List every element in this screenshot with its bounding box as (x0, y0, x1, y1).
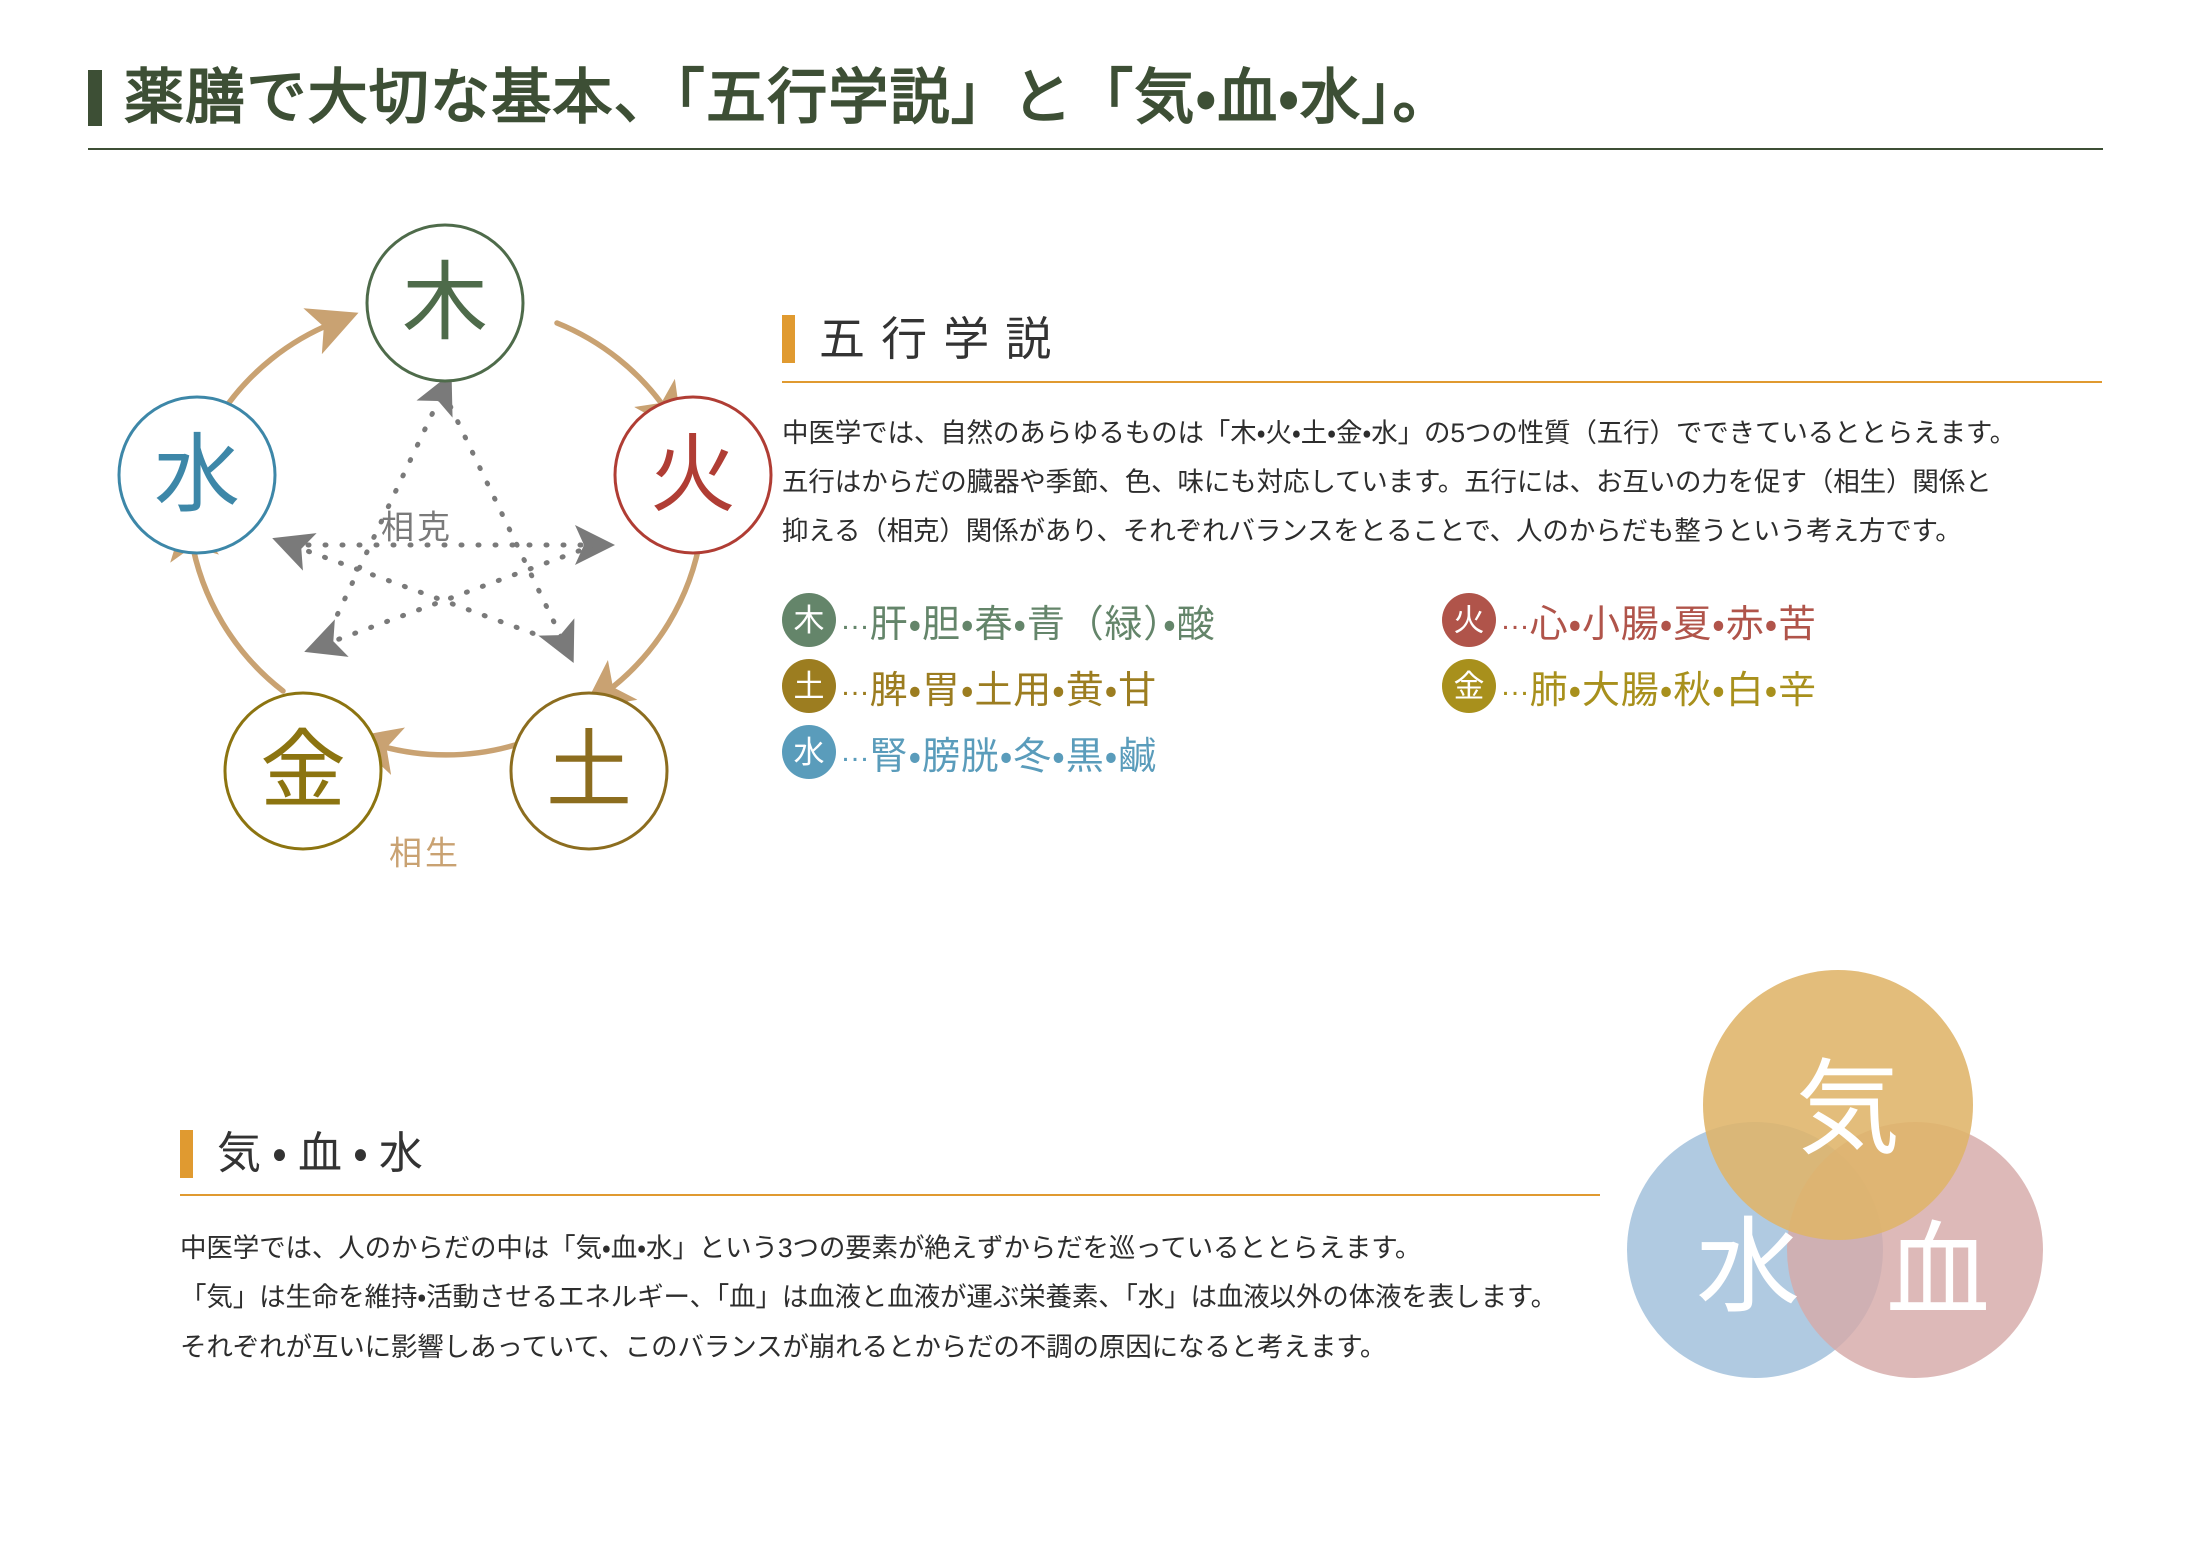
page-title: 薬膳で大切な基本、「五行学説」と「気・血・水」。 (88, 48, 2103, 150)
element-node-metal-label: 金 (260, 723, 346, 819)
ki-ketsu-sui-heading-text: 気・血・水 (217, 1132, 434, 1176)
legend-row-water: 水 … 腎・膀胱・冬・黒・鹹 (782, 722, 1442, 782)
gogyou-heading: 五行学説 (782, 315, 2102, 383)
five-elements-wheel-diagram: 木 火 土 金 水 相克 相生 (95, 215, 795, 915)
ki-ketsu-sui-paragraph-line: 中医学では、人のからだの中は「気・血・水」という3つの要素が絶えずからだを巡って… (180, 1224, 1600, 1273)
legend-ellipsis: … (840, 735, 868, 769)
gogyou-paragraph-line: 中医学では、自然のあらゆるものは「木・火・土・金・水」の5つの性質（五行）ででき… (782, 409, 2102, 458)
legend-badge-earth: 土 (782, 659, 836, 713)
legend-text-wood: 肝・胆・春・青（緑）・酸 (870, 593, 1216, 648)
ki-ketsu-sui-paragraph: 中医学では、人のからだの中は「気・血・水」という3つの要素が絶えずからだを巡って… (180, 1224, 1600, 1372)
element-node-wood-label: 木 (402, 255, 488, 351)
sheng-cycle-label: 相生 (389, 835, 461, 872)
legend-text-metal: 肺・大腸・秋・白・辛 (1530, 659, 1817, 714)
legend-row-wood: 木 … 肝・胆・春・青（緑）・酸 (782, 590, 1442, 650)
legend-text-earth: 脾・胃・土用・黄・甘 (870, 659, 1157, 714)
legend-ellipsis: … (1500, 669, 1528, 703)
page-title-text: 薬膳で大切な基本、「五行学説」と「気・血・水」。 (124, 68, 1454, 128)
legend-badge-wood: 木 (782, 593, 836, 647)
ki-ketsu-sui-section: 気・血・水 中医学では、人のからだの中は「気・血・水」という3つの要素が絶えずか… (180, 1130, 1600, 1372)
legend-ellipsis: … (840, 669, 868, 703)
element-node-earth: 土 (511, 693, 667, 849)
venn-label-ki: 気 (1796, 1052, 1900, 1168)
gogyou-paragraph-line: 抑える（相克）関係があり、それぞれバランスをとることで、人のからだも整うという考… (782, 507, 2102, 556)
title-accent-bar (88, 70, 102, 126)
legend-badge-fire: 火 (1442, 593, 1496, 647)
legend-row-metal: 金 … 肺・大腸・秋・白・辛 (1442, 656, 2102, 716)
element-node-water: 水 (119, 397, 275, 553)
element-node-fire: 火 (615, 397, 771, 553)
ki-ketsu-sui-heading-accent-bar (180, 1130, 193, 1178)
gogyou-heading-accent-bar (782, 315, 795, 363)
ki-ketsu-sui-paragraph-line: それぞれが互いに影響しあっていて、このバランスが崩れるとからだの不調の原因になる… (180, 1323, 1600, 1372)
legend-row-fire: 火 … 心・小腸・夏・赤・苦 (1442, 590, 2102, 650)
legend-ellipsis: … (840, 603, 868, 637)
element-node-earth-label: 土 (546, 723, 632, 819)
element-node-water-label: 水 (154, 427, 240, 523)
ki-ketsu-sui-heading: 気・血・水 (180, 1130, 1600, 1196)
gogyou-gakusetsu-section: 五行学説 中医学では、自然のあらゆるものは「木・火・土・金・水」の5つの性質（五… (782, 315, 2102, 782)
venn-label-sui: 水 (1696, 1210, 1800, 1326)
ke-cycle-label: 相克 (381, 509, 453, 546)
ki-ketsu-sui-venn-diagram: 気 水 血 (1530, 920, 2110, 1420)
legend-row-earth: 土 … 脾・胃・土用・黄・甘 (782, 656, 1442, 716)
legend-ellipsis: … (1500, 603, 1528, 637)
element-node-wood: 木 (367, 225, 523, 381)
legend-badge-water: 水 (782, 725, 836, 779)
element-association-legend: 木 … 肝・胆・春・青（緑）・酸 火 … 心・小腸・夏・赤・苦 土 … 脾・胃・… (782, 590, 2102, 782)
element-node-fire-label: 火 (650, 427, 736, 523)
gogyou-paragraph-line: 五行はからだの臓器や季節、色、味にも対応しています。五行には、お互いの力を促す（… (782, 458, 2102, 507)
legend-text-water: 腎・膀胱・冬・黒・鹹 (870, 725, 1157, 780)
element-node-metal: 金 (225, 693, 381, 849)
legend-text-fire: 心・小腸・夏・赤・苦 (1530, 593, 1817, 648)
gogyou-paragraph: 中医学では、自然のあらゆるものは「木・火・土・金・水」の5つの性質（五行）ででき… (782, 409, 2102, 556)
ki-ketsu-sui-paragraph-line: 「気」は生命を維持・活動させるエネルギー、「血」は血液と血液が運ぶ栄養素、「水」… (180, 1273, 1600, 1322)
venn-label-ketsu: 血 (1886, 1214, 1990, 1330)
gogyou-heading-text: 五行学説 (819, 316, 1067, 362)
legend-badge-metal: 金 (1442, 659, 1496, 713)
